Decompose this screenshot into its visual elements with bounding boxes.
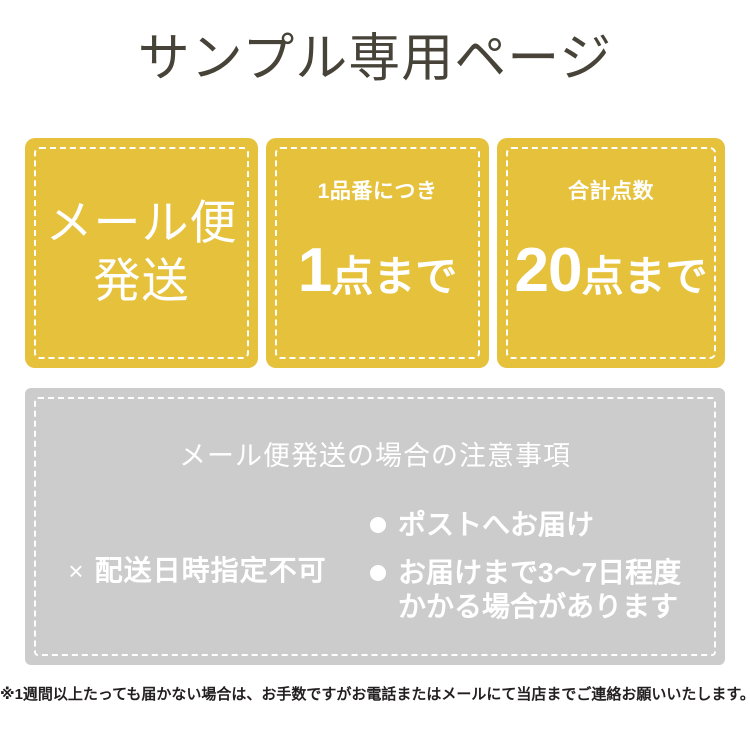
card-total-limit-value: 20 点まで [515,240,708,302]
notice-box: メール便発送の場合の注意事項 ×配送日時指定不可 ポストへお届け お届けまで3〜… [25,388,725,665]
card-per-item-limit: 1品番につき 1 点まで [266,138,489,368]
cross-mark-icon: × [68,556,84,586]
info-cards-row: メール便 発送 1品番につき 1 点まで 合計点数 20 点まで [25,138,725,368]
notice-bullet-list: ポストへお届け お届けまで3〜7日程度 かかる場合があります [370,506,725,638]
list-item-text: ポストへお届け [398,508,594,542]
bullet-dot-icon [370,565,386,581]
list-item-text: お届けまで3〜7日程度 かかる場合があります [398,556,681,624]
bullet-dot-icon [370,517,386,533]
card-per-item-limit-value: 1 点まで [298,240,458,302]
card-per-item-limit-unit: 点まで [331,256,457,298]
list-item-line1: ポストへお届け [398,509,594,540]
list-item: お届けまで3〜7日程度 かかる場合があります [370,556,725,624]
list-item-line1: お届けまで3〜7日程度 [398,557,681,588]
card-mail-delivery-line2: 発送 [46,252,238,310]
card-total-limit-number: 20 [515,240,582,302]
card-total-limit-unit: 点まで [581,256,707,298]
notice-restriction-label: 配送日時指定不可 [95,555,327,586]
card-per-item-limit-label: 1品番につき [318,180,438,204]
page-title: サンプル専用ページ [0,28,750,90]
list-item-line2: かかる場合があります [398,590,681,624]
notice-body: ×配送日時指定不可 ポストへお届け お届けまで3〜7日程度 かかる場合があります [25,506,725,646]
card-mail-delivery: メール便 発送 [25,138,258,368]
card-mail-delivery-text: メール便 発送 [46,194,238,310]
card-total-limit-label: 合計点数 [568,180,654,204]
notice-heading: メール便発送の場合の注意事項 [25,440,725,472]
notice-restriction-text: ×配送日時指定不可 [68,554,326,588]
footer-note: ※1週間以上たっても届かない場合は、お手数ですがお電話またはメールにて当店までご… [0,685,750,705]
card-total-limit: 合計点数 20 点まで [497,138,725,368]
card-per-item-limit-number: 1 [298,240,331,302]
notice-restriction-item: ×配送日時指定不可 [25,506,370,636]
card-mail-delivery-line1: メール便 [46,196,238,249]
list-item: ポストへお届け [370,508,725,542]
